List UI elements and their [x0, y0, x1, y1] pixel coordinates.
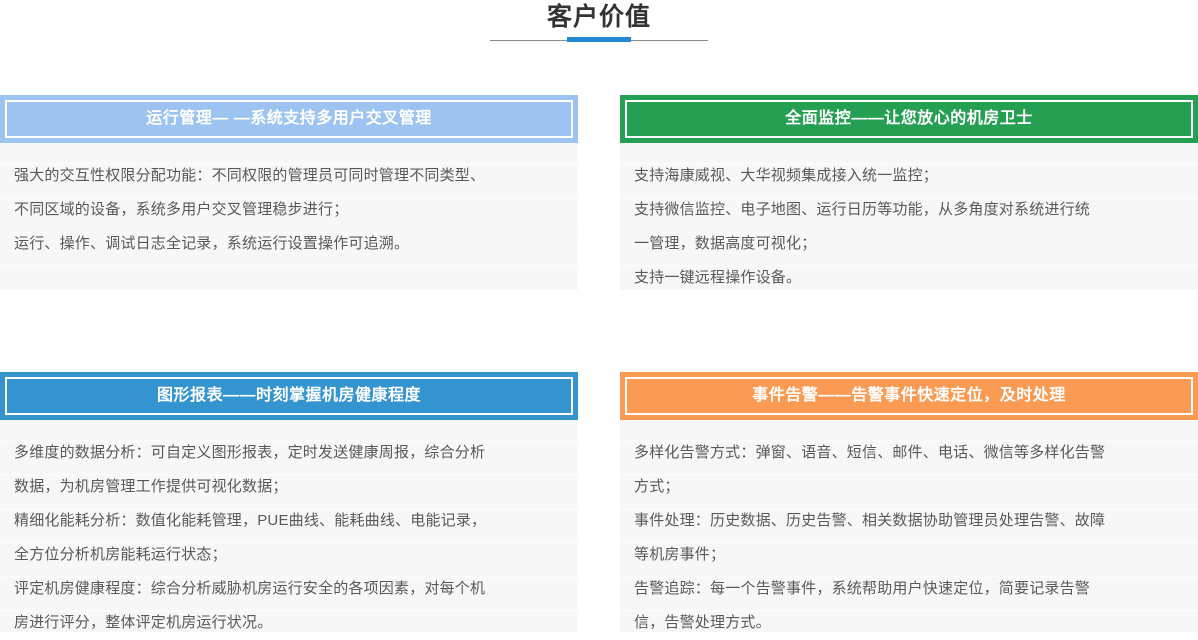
card-body-event-alarm: 多样化告警方式：弹窗、语音、短信、邮件、电话、微信等多样化告警 方式； 事件处理… [620, 420, 1198, 632]
page-title: 客户价值 [0, 2, 1198, 32]
title-rule-accent [567, 37, 631, 42]
card-body-full-monitoring: 支持海康威视、大华视频集成接入统一监控； 支持微信监控、电子地图、运行日历等功能… [620, 143, 1198, 290]
card-title: 事件告警——告警事件快速定位，及时处理 [752, 386, 1066, 406]
card-title: 图形报表——时刻掌握机房健康程度 [157, 386, 421, 406]
card-text-line: 精细化能耗分析：数值化能耗管理，PUE曲线、能耗曲线、电能记录， [14, 504, 564, 538]
card-text-line: 信，告警处理方式。 [634, 606, 1184, 640]
card-header-operation-management: 运行管理— —系统支持多用户交叉管理 [0, 95, 578, 143]
card-text-line: 支持海康威视、大华视频集成接入统一监控； [634, 159, 1184, 193]
card-text-line: 支持一键远程操作设备。 [634, 261, 1184, 295]
card-text-line: 运行、操作、调试日志全记录，系统运行设置操作可追溯。 [14, 227, 564, 261]
card-event-alarm[interactable]: 事件告警——告警事件快速定位，及时处理 多样化告警方式：弹窗、语音、短信、邮件、… [620, 372, 1198, 632]
card-text-line: 强大的交互性权限分配功能：不同权限的管理员可同时管理不同类型、 [14, 159, 564, 193]
card-title: 运行管理— —系统支持多用户交叉管理 [146, 109, 431, 129]
card-text-line: 方式； [634, 470, 1184, 504]
card-header-full-monitoring: 全面监控——让您放心的机房卫士 [620, 95, 1198, 143]
card-text-line: 事件处理：历史数据、历史告警、相关数据协助管理员处理告警、故障 [634, 504, 1184, 538]
card-full-monitoring[interactable]: 全面监控——让您放心的机房卫士 支持海康威视、大华视频集成接入统一监控； 支持微… [620, 95, 1198, 290]
card-text-line: 等机房事件； [634, 538, 1184, 572]
card-header-graphic-report: 图形报表——时刻掌握机房健康程度 [0, 372, 578, 420]
card-text-line: 多维度的数据分析：可自定义图形报表，定时发送健康周报，综合分析 [14, 436, 564, 470]
card-text-line: 全方位分析机房能耗运行状态； [14, 538, 564, 572]
card-text-line: 支持微信监控、电子地图、运行日历等功能，从多角度对系统进行统 [634, 193, 1184, 227]
title-underline [490, 35, 708, 47]
card-text-line: 不同区域的设备，系统多用户交叉管理稳步进行； [14, 193, 564, 227]
card-text-line: 告警追踪：每一个告警事件，系统帮助用户快速定位，简要记录告警 [634, 572, 1184, 606]
card-body-operation-management: 强大的交互性权限分配功能：不同权限的管理员可同时管理不同类型、 不同区域的设备，… [0, 143, 578, 290]
card-text-line: 一管理，数据高度可视化； [634, 227, 1184, 261]
card-text-line: 多样化告警方式：弹窗、语音、短信、邮件、电话、微信等多样化告警 [634, 436, 1184, 470]
card-header-event-alarm: 事件告警——告警事件快速定位，及时处理 [620, 372, 1198, 420]
card-title: 全面监控——让您放心的机房卫士 [785, 109, 1033, 129]
card-graphic-report[interactable]: 图形报表——时刻掌握机房健康程度 多维度的数据分析：可自定义图形报表，定时发送健… [0, 372, 578, 632]
card-text-line: 数据，为机房管理工作提供可视化数据； [14, 470, 564, 504]
card-body-graphic-report: 多维度的数据分析：可自定义图形报表，定时发送健康周报，综合分析 数据，为机房管理… [0, 420, 578, 632]
page-header: 客户价值 [0, 0, 1198, 47]
card-operation-management[interactable]: 运行管理— —系统支持多用户交叉管理 强大的交互性权限分配功能：不同权限的管理员… [0, 95, 578, 290]
card-text-line: 评定机房健康程度：综合分析威胁机房运行安全的各项因素，对每个机 [14, 572, 564, 606]
card-text-line: 房进行评分，整体评定机房运行状况。 [14, 606, 564, 640]
